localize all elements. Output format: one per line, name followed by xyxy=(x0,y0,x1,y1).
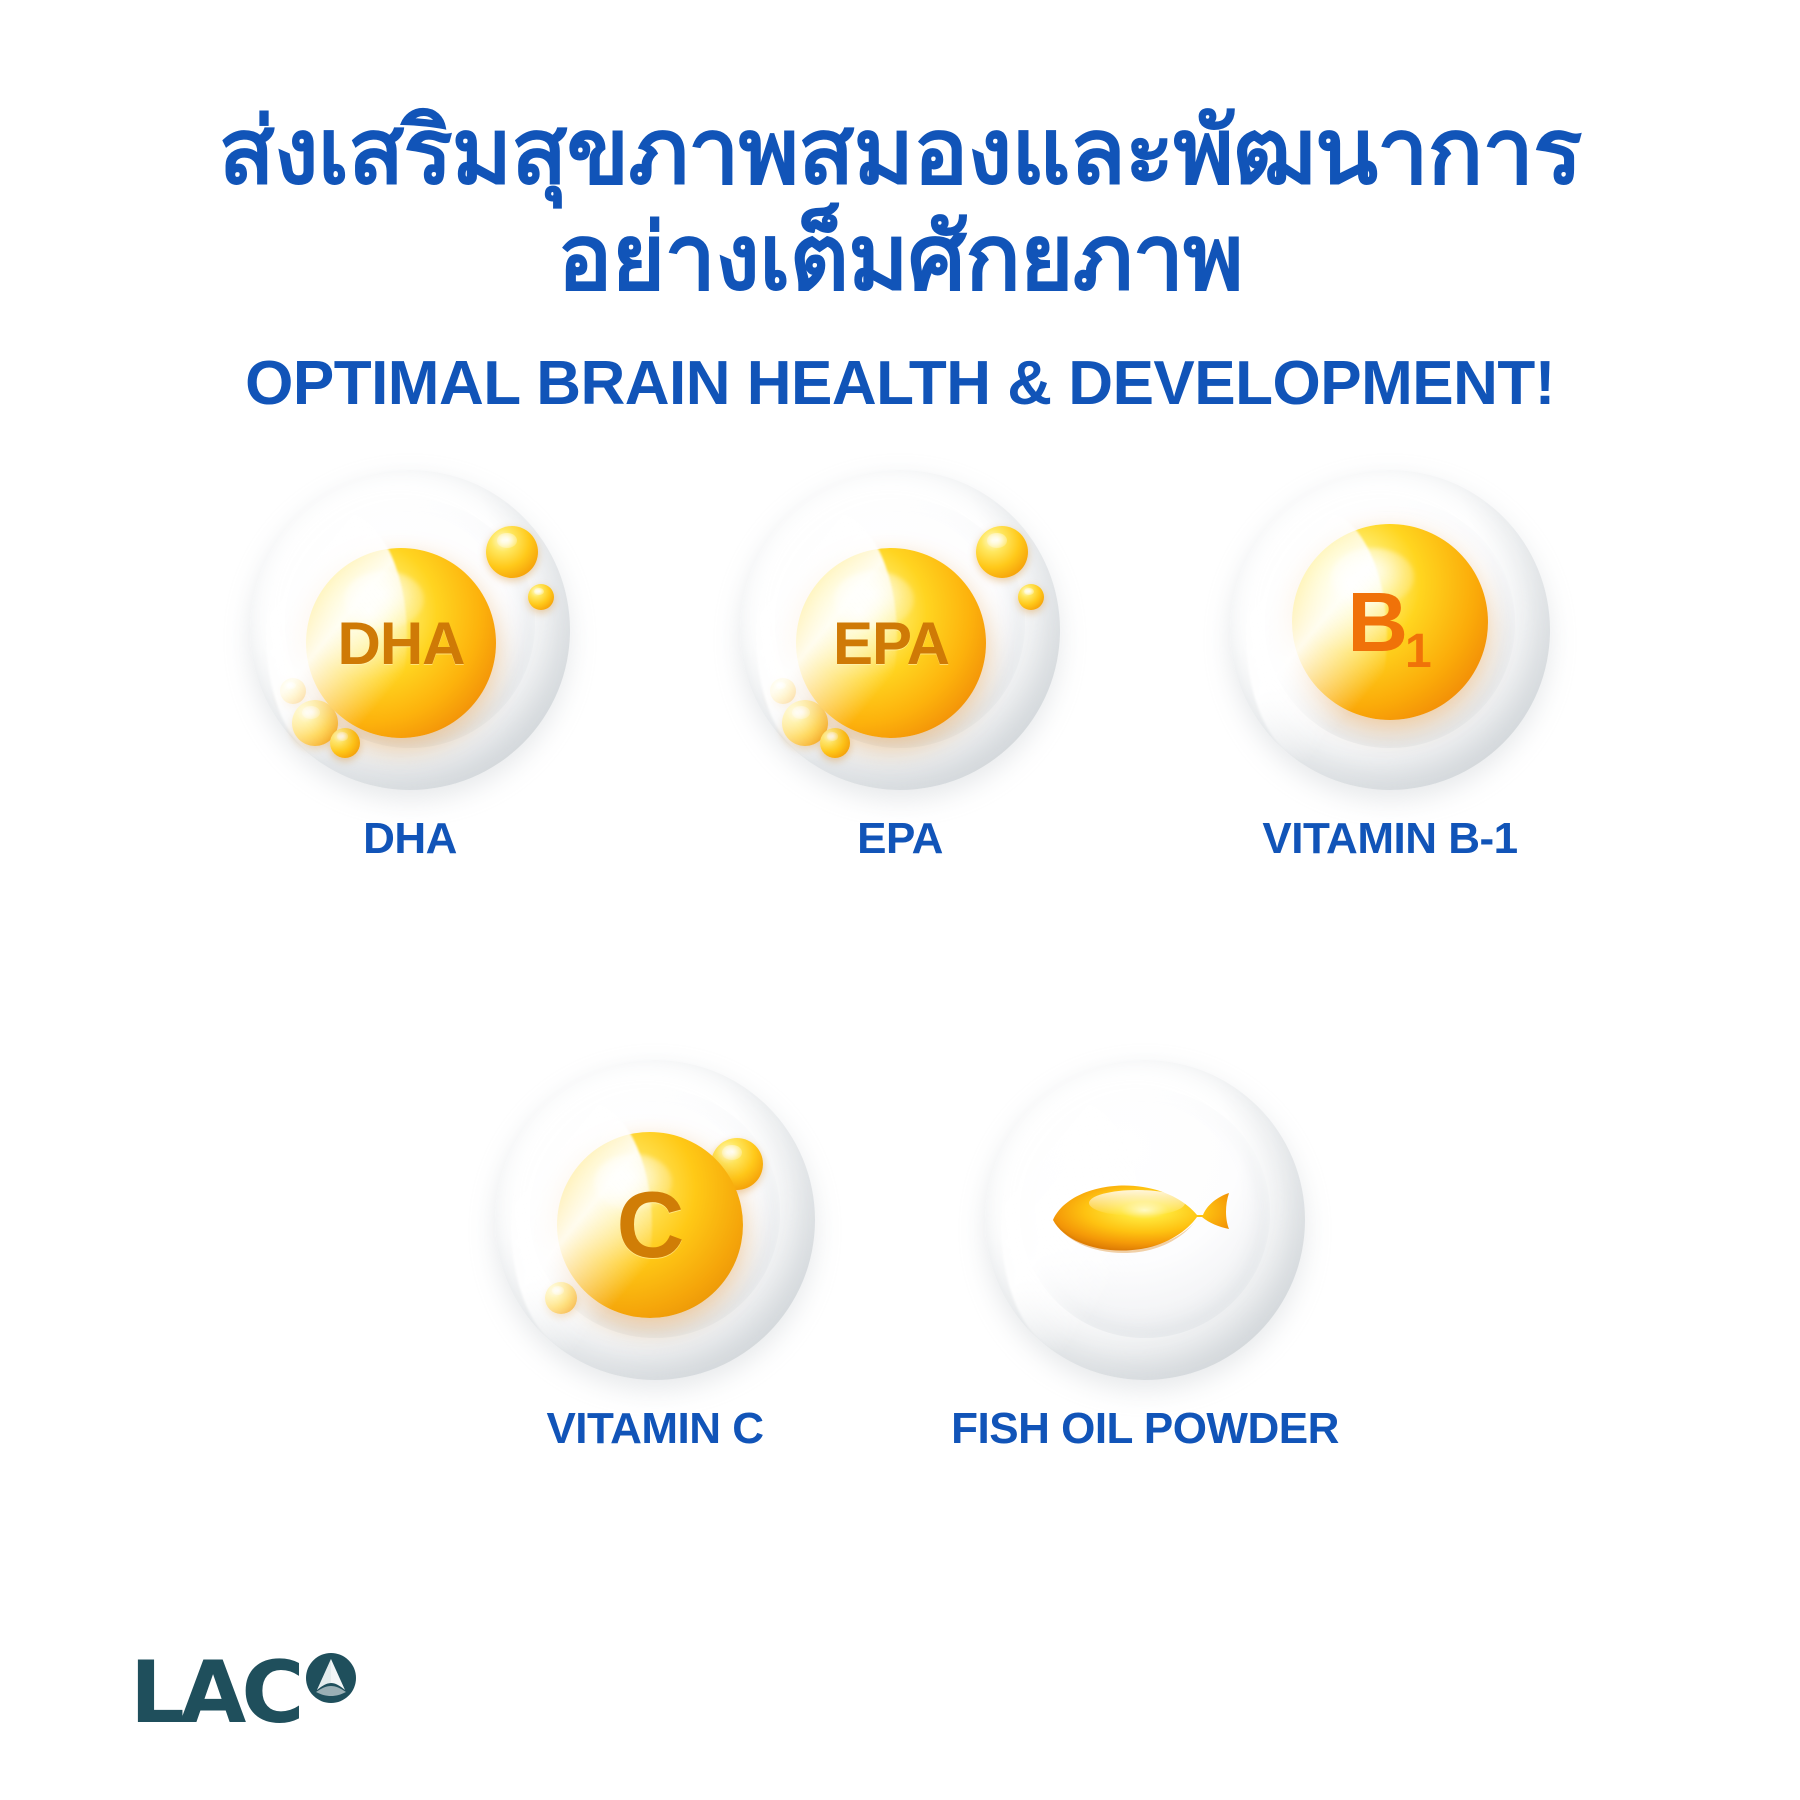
caption-epa: EPA xyxy=(857,814,943,864)
bubble-icon xyxy=(528,584,554,610)
drop-icon-epa: EPA xyxy=(796,548,986,738)
capsule-shell-vitamin-b1: B1 xyxy=(1230,470,1550,790)
drop-label-dha: DHA xyxy=(338,609,465,678)
capsule-shell-fish-oil xyxy=(985,1060,1305,1380)
caption-fish-oil-powder: FISH OIL POWDER xyxy=(951,1404,1339,1454)
fish-icon xyxy=(1045,1175,1245,1265)
headline-thai-line-2: อย่างเต็มศักยภาพ xyxy=(0,202,1800,314)
drop-icon-dha: DHA xyxy=(306,548,496,738)
lac-emblem-icon xyxy=(305,1652,357,1709)
caption-dha: DHA xyxy=(363,814,457,864)
bubble-icon xyxy=(330,728,360,758)
bubble-icon xyxy=(820,728,850,758)
ingredient-fish-oil-powder: FISH OIL POWDER xyxy=(980,1060,1310,1454)
drop-label-b1-letter: B xyxy=(1347,575,1407,669)
ingredient-epa: EPA EPA xyxy=(735,470,1065,864)
bubble-icon xyxy=(770,678,796,704)
bubble-icon xyxy=(976,526,1028,578)
headline-thai-line-1: ส่งเสริมสุขภาพสมองและพัฒนาการ xyxy=(0,96,1800,208)
capsule-shell-dha: DHA xyxy=(250,470,570,790)
ingredient-dha: DHA DHA xyxy=(245,470,575,864)
lac-logo: LAC xyxy=(130,1650,357,1736)
drop-label-vitamin-c: C xyxy=(617,1171,684,1279)
drop-icon-vitamin-c: C xyxy=(557,1132,743,1318)
drop-label-epa: EPA xyxy=(833,609,949,678)
lac-wordmark: LAC xyxy=(130,1650,299,1736)
headline-block: ส่งเสริมสุขภาพสมองและพัฒนาการ อย่างเต็มศ… xyxy=(0,96,1800,419)
drop-label-b1-subscript: 1 xyxy=(1405,625,1431,678)
ingredient-vitamin-c: C VITAMIN C xyxy=(490,1060,820,1454)
ingredient-row-2: C VITAMIN C xyxy=(0,1060,1800,1454)
capsule-shell-epa: EPA xyxy=(740,470,1060,790)
ingredient-row-1: DHA DHA EPA EPA B1 VITAMIN B-1 xyxy=(0,470,1800,864)
bubble-icon xyxy=(545,1282,577,1314)
caption-vitamin-c: VITAMIN C xyxy=(546,1404,763,1454)
bubble-icon xyxy=(486,526,538,578)
headline-english-subtitle: OPTIMAL BRAIN HEALTH & DEVELOPMENT! xyxy=(0,348,1800,419)
ingredient-vitamin-b1: B1 VITAMIN B-1 xyxy=(1225,470,1555,864)
capsule-shell-vitamin-c: C xyxy=(495,1060,815,1380)
caption-vitamin-b1: VITAMIN B-1 xyxy=(1262,814,1517,864)
drop-label-vitamin-b1: B1 xyxy=(1347,574,1432,671)
drop-icon-vitamin-b1: B1 xyxy=(1292,524,1488,720)
bubble-icon xyxy=(1018,584,1044,610)
bubble-icon xyxy=(280,678,306,704)
